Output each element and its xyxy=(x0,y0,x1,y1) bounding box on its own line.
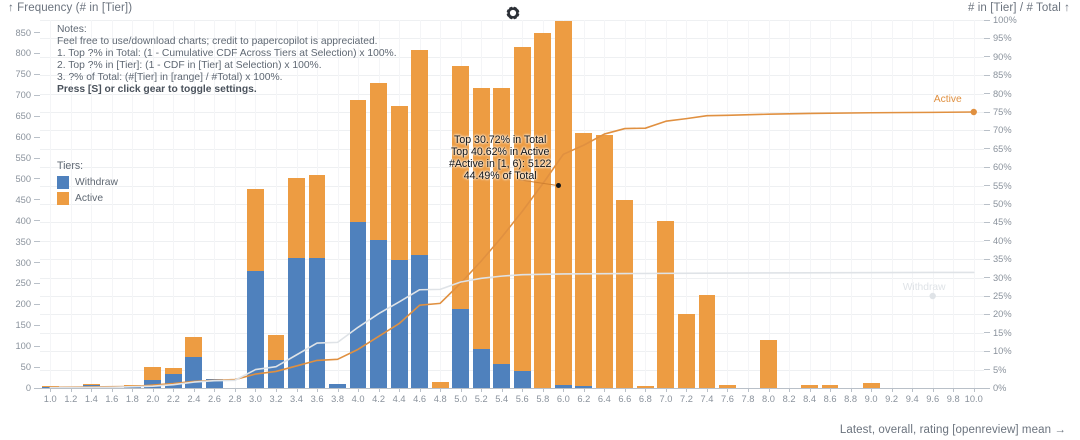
x-tick-label: 6.8 xyxy=(639,394,652,404)
x-tick-mark xyxy=(789,388,790,392)
y-right-tick: 25% xyxy=(984,291,1012,301)
y-right-tick-label: 70% xyxy=(993,125,1012,135)
y-left-tick-label: 200 xyxy=(15,299,31,309)
y-left-tick: 250 xyxy=(15,278,40,288)
x-tick-label: 8.0 xyxy=(762,394,775,404)
bar-group[interactable] xyxy=(288,178,305,388)
x-tick-label: 7.6 xyxy=(721,394,734,404)
x-tick-label: 5.6 xyxy=(516,394,529,404)
x-tick-label: 3.8 xyxy=(331,394,344,404)
x-tick-mark xyxy=(358,388,359,392)
y-right-tick: 50% xyxy=(984,199,1012,209)
y-right-tick: 35% xyxy=(984,254,1012,264)
x-tick-mark xyxy=(214,388,215,392)
x-tick-mark xyxy=(112,388,113,392)
right-axis-title: # in [Tier] / # Total ↑ xyxy=(968,2,1070,14)
y-left-tick-label: 100 xyxy=(15,341,31,351)
y-right-tick-mark xyxy=(984,332,990,333)
y-right-tick-mark xyxy=(984,93,990,94)
legend-label-withdraw: Withdraw xyxy=(75,177,118,188)
y-right-tick-mark xyxy=(984,167,990,168)
x-tick-label: 8.8 xyxy=(844,394,857,404)
bar-segment-withdraw[interactable] xyxy=(288,258,305,388)
legend-swatch-active xyxy=(57,192,69,205)
bar-group[interactable] xyxy=(370,83,387,388)
y-right-tick: 0% xyxy=(984,383,1006,393)
y-right-tick: 20% xyxy=(984,309,1012,319)
y-right-tick-label: 60% xyxy=(993,162,1012,172)
y-axis-left: 0501001502002503003504004505005506006507… xyxy=(0,20,40,388)
chart-root: ↑ Frequency (# in [Tier]) # in [Tier] / … xyxy=(0,0,1080,440)
x-tick-label: 2.4 xyxy=(187,394,200,404)
y-left-tick: 850 xyxy=(15,28,40,38)
x-tick-label: 1.0 xyxy=(44,394,57,404)
bar-segment-withdraw[interactable] xyxy=(268,360,285,388)
bar-segment-withdraw[interactable] xyxy=(309,258,326,388)
bar-segment-withdraw[interactable] xyxy=(206,379,223,388)
y-right-tick-mark xyxy=(984,112,990,113)
bar-segment-active[interactable] xyxy=(370,83,387,240)
x-tick-label: 5.8 xyxy=(536,394,549,404)
bar-group[interactable] xyxy=(555,21,572,388)
y-right-tick-label: 5% xyxy=(993,365,1006,375)
y-left-tick: 700 xyxy=(15,90,40,100)
x-tick-label: 2.6 xyxy=(208,394,221,404)
y-left-tick-label: 400 xyxy=(15,216,31,226)
x-tick-label: 9.8 xyxy=(947,394,960,404)
bar-segment-withdraw[interactable] xyxy=(452,309,469,388)
bar-group[interactable] xyxy=(760,340,777,388)
x-tick-mark xyxy=(933,388,934,392)
x-tick-mark xyxy=(645,388,646,392)
y-right-tick-mark xyxy=(984,75,990,76)
y-right-tick-mark xyxy=(984,314,990,315)
x-tick-label: 8.2 xyxy=(783,394,796,404)
bar-group[interactable] xyxy=(206,379,223,388)
y-left-tick: 300 xyxy=(15,258,40,268)
y-right-tick: 10% xyxy=(984,346,1012,356)
x-tick-mark xyxy=(871,388,872,392)
x-tick-mark xyxy=(584,388,585,392)
legend-swatch-withdraw xyxy=(57,176,69,189)
y-right-tick-mark xyxy=(984,130,990,131)
active-curve-label: Active xyxy=(934,94,962,105)
x-tick-label: 2.0 xyxy=(146,394,159,404)
x-axis-title: Latest, overall, rating [openreview] mea… xyxy=(840,424,1066,436)
x-tick-mark xyxy=(153,388,154,392)
x-tick-mark xyxy=(132,388,133,392)
x-tick-mark xyxy=(379,388,380,392)
y-right-tick-label: 50% xyxy=(993,199,1012,209)
y-right-tick-mark xyxy=(984,369,990,370)
y-right-tick: 70% xyxy=(984,125,1012,135)
bar-group[interactable] xyxy=(699,295,716,388)
left-axis-title: ↑ Frequency (# in [Tier]) xyxy=(8,2,132,14)
x-tick-label: 6.6 xyxy=(618,394,631,404)
x-tick-mark xyxy=(912,388,913,392)
bar-segment-active[interactable] xyxy=(288,178,305,257)
x-tick-mark xyxy=(235,388,236,392)
x-tick-mark xyxy=(173,388,174,392)
y-right-tick-mark xyxy=(984,148,990,149)
x-tick-mark xyxy=(727,388,728,392)
y-right-tick-label: 65% xyxy=(993,144,1012,154)
legend: Tiers: Withdraw Active xyxy=(57,160,118,208)
bar-segment-active[interactable] xyxy=(411,50,428,255)
bar-segment-withdraw[interactable] xyxy=(473,349,490,388)
y-left-tick: 550 xyxy=(15,153,40,163)
x-tick-label: 1.4 xyxy=(85,394,98,404)
x-tick-mark xyxy=(666,388,667,392)
y-right-tick: 5% xyxy=(984,365,1006,375)
x-tick-label: 8.6 xyxy=(824,394,837,404)
bar-group[interactable] xyxy=(144,367,161,388)
x-tick-mark xyxy=(543,388,544,392)
bar-segment-active[interactable] xyxy=(473,88,490,349)
notes-line-2: 1. Top ?% in Total: (1 - Cumulative CDF … xyxy=(57,48,397,60)
legend-item-withdraw[interactable]: Withdraw xyxy=(57,176,118,189)
x-tick-mark xyxy=(625,388,626,392)
bar-group[interactable] xyxy=(657,221,674,388)
bar-segment-active[interactable] xyxy=(657,221,674,388)
bar-segment-active[interactable] xyxy=(309,175,326,257)
annotation-line-4: 44.49% of Total xyxy=(449,170,551,182)
y-left-tick: 750 xyxy=(15,69,40,79)
x-tick-mark xyxy=(481,388,482,392)
x-tick-mark xyxy=(522,388,523,392)
x-tick-mark xyxy=(707,388,708,392)
x-tick-label: 1.8 xyxy=(126,394,139,404)
x-tick-mark xyxy=(502,388,503,392)
y-right-tick-label: 90% xyxy=(993,52,1012,62)
bar-group[interactable] xyxy=(391,106,408,388)
y-right-tick: 30% xyxy=(984,273,1012,283)
annotation-point-marker xyxy=(556,183,561,188)
bar-segment-active[interactable] xyxy=(42,386,59,387)
x-tick-mark xyxy=(71,388,72,392)
y-right-tick-mark xyxy=(984,185,990,186)
bar-segment-withdraw[interactable] xyxy=(165,374,182,388)
y-left-tick-label: 750 xyxy=(15,69,31,79)
legend-title: Tiers: xyxy=(57,160,118,172)
bar-segment-withdraw[interactable] xyxy=(144,380,161,388)
x-tick-label: 3.6 xyxy=(311,394,324,404)
x-tick-mark xyxy=(461,388,462,392)
y-left-tick-label: 500 xyxy=(15,174,31,184)
bar-segment-active[interactable] xyxy=(452,66,469,309)
bar-group[interactable] xyxy=(534,33,551,388)
y-left-tick: 100 xyxy=(15,341,40,351)
y-left-tick: 500 xyxy=(15,174,40,184)
y-right-tick-label: 75% xyxy=(993,107,1012,117)
y-left-tick-label: 250 xyxy=(15,278,31,288)
bar-segment-withdraw[interactable] xyxy=(350,222,367,388)
y-left-tick-label: 450 xyxy=(15,195,31,205)
y-right-tick-mark xyxy=(984,259,990,260)
withdraw-curve-label: Withdraw xyxy=(903,282,946,293)
x-tick-mark xyxy=(851,388,852,392)
x-tick-label: 3.4 xyxy=(290,394,303,404)
y-left-tick-label: 850 xyxy=(15,28,31,38)
bar-group[interactable] xyxy=(616,200,633,388)
y-left-tick-label: 600 xyxy=(15,132,31,142)
y-left-tick-label: 800 xyxy=(15,48,31,58)
y-right-tick-mark xyxy=(984,20,990,21)
y-axis-right: 0%5%10%15%20%25%30%35%40%45%50%55%60%65%… xyxy=(984,20,1080,388)
bar-segment-active[interactable] xyxy=(555,21,572,385)
x-tick-label: 5.4 xyxy=(495,394,508,404)
x-tick-label: 9.6 xyxy=(926,394,939,404)
y-left-tick-label: 550 xyxy=(15,153,31,163)
x-tick-label: 1.2 xyxy=(64,394,77,404)
bar-segment-withdraw[interactable] xyxy=(514,371,531,388)
y-right-tick-label: 35% xyxy=(993,254,1012,264)
selection-annotation: Top 30.72% in Total Top 40.62% in Active… xyxy=(449,134,551,183)
y-right-tick: 60% xyxy=(984,162,1012,172)
y-right-tick-mark xyxy=(984,351,990,352)
x-tick-label: 6.2 xyxy=(577,394,590,404)
x-tick-mark xyxy=(194,388,195,392)
x-tick-label: 1.6 xyxy=(105,394,118,404)
y-right-tick-label: 15% xyxy=(993,328,1012,338)
x-tick-label: 10.0 xyxy=(965,394,983,404)
bar-segment-active[interactable] xyxy=(144,367,161,380)
y-right-tick: 85% xyxy=(984,70,1012,80)
bar-group[interactable] xyxy=(309,175,326,388)
x-tick-label: 3.2 xyxy=(270,394,283,404)
y-left-tick-label: 350 xyxy=(15,237,31,247)
y-right-tick-label: 20% xyxy=(993,309,1012,319)
y-right-tick-mark xyxy=(984,222,990,223)
x-tick-label: 5.2 xyxy=(475,394,488,404)
legend-label-active: Active xyxy=(75,193,103,204)
bar-segment-active[interactable] xyxy=(616,200,633,388)
x-tick-mark xyxy=(810,388,811,392)
bar-segment-active[interactable] xyxy=(247,189,264,271)
y-right-tick-label: 10% xyxy=(993,346,1012,356)
bar-segment-withdraw[interactable] xyxy=(370,240,387,388)
y-right-tick: 45% xyxy=(984,217,1012,227)
y-right-tick: 90% xyxy=(984,52,1012,62)
x-tick-label: 7.4 xyxy=(700,394,713,404)
y-right-tick-label: 100% xyxy=(993,15,1017,25)
x-tick-mark xyxy=(686,388,687,392)
bar-group[interactable] xyxy=(350,100,367,388)
y-left-tick: 200 xyxy=(15,299,40,309)
y-left-tick: 400 xyxy=(15,216,40,226)
annotation-line-2: Top 40.62% in Active xyxy=(449,146,551,158)
y-left-tick-label: 700 xyxy=(15,90,31,100)
x-tick-label: 4.0 xyxy=(352,394,365,404)
y-right-tick: 65% xyxy=(984,144,1012,154)
x-tick-label: 2.8 xyxy=(228,394,241,404)
y-left-tick-label: 300 xyxy=(15,258,31,268)
y-right-tick: 55% xyxy=(984,181,1012,191)
bar-group[interactable] xyxy=(268,334,285,388)
bar-segment-active[interactable] xyxy=(760,340,777,388)
bar-segment-active[interactable] xyxy=(350,100,367,221)
y-right-tick-mark xyxy=(984,240,990,241)
bar-segment-active[interactable] xyxy=(699,295,716,388)
bar-group[interactable] xyxy=(185,337,202,388)
y-right-tick-label: 55% xyxy=(993,181,1012,191)
x-tick-label: 7.8 xyxy=(742,394,755,404)
bar-segment-withdraw[interactable] xyxy=(391,260,408,388)
x-tick-mark xyxy=(748,388,749,392)
y-right-tick-label: 30% xyxy=(993,273,1012,283)
x-tick-label: 7.2 xyxy=(680,394,693,404)
y-left-tick: 800 xyxy=(15,48,40,58)
legend-item-active[interactable]: Active xyxy=(57,192,118,205)
x-tick-label: 6.4 xyxy=(598,394,611,404)
x-tick-mark xyxy=(420,388,421,392)
x-tick-label: 7.0 xyxy=(659,394,672,404)
x-tick-label: 9.4 xyxy=(906,394,919,404)
y-right-tick: 75% xyxy=(984,107,1012,117)
y-left-tick-label: 50 xyxy=(21,362,31,372)
bar-segment-active[interactable] xyxy=(678,314,695,388)
annotation-line-3: #Active in [1, 6): 5122 xyxy=(449,158,551,170)
x-tick-mark xyxy=(604,388,605,392)
y-right-tick-label: 85% xyxy=(993,70,1012,80)
y-left-tick: 650 xyxy=(15,111,40,121)
y-right-tick-mark xyxy=(984,296,990,297)
y-right-tick-label: 45% xyxy=(993,217,1012,227)
bar-group[interactable] xyxy=(514,47,531,388)
x-tick-label: 4.6 xyxy=(413,394,426,404)
x-axis: 1.01.21.41.61.82.02.22.42.62.83.03.23.43… xyxy=(40,388,984,410)
x-tick-mark xyxy=(440,388,441,392)
bar-group[interactable] xyxy=(452,66,469,388)
notes-line-5: Press [S] or click gear to toggle settin… xyxy=(57,84,397,96)
bar-segment-withdraw[interactable] xyxy=(247,271,264,388)
y-right-tick-label: 0% xyxy=(993,383,1006,393)
y-left-tick: 150 xyxy=(15,320,40,330)
y-left-tick: 350 xyxy=(15,237,40,247)
x-tick-label: 4.8 xyxy=(434,394,447,404)
x-tick-mark xyxy=(255,388,256,392)
bar-segment-withdraw[interactable] xyxy=(185,357,202,388)
bar-group[interactable] xyxy=(678,314,695,388)
bar-group[interactable] xyxy=(165,368,182,388)
y-left-tick-label: 650 xyxy=(15,111,31,121)
bar-segment-active[interactable] xyxy=(391,106,408,261)
x-tick-mark xyxy=(338,388,339,392)
x-tick-mark xyxy=(297,388,298,392)
x-tick-mark xyxy=(317,388,318,392)
x-tick-label: 9.0 xyxy=(865,394,878,404)
x-tick-label: 5.0 xyxy=(454,394,467,404)
bar-group[interactable] xyxy=(575,133,592,389)
x-tick-label: 3.0 xyxy=(249,394,262,404)
bar-segment-active[interactable] xyxy=(268,335,285,360)
bar-group[interactable] xyxy=(411,50,428,388)
x-tick-mark xyxy=(50,388,51,392)
x-tick-mark xyxy=(563,388,564,392)
x-tick-mark xyxy=(399,388,400,392)
y-right-tick-label: 80% xyxy=(993,89,1012,99)
x-tick-label: 2.2 xyxy=(167,394,180,404)
x-tick-label: 8.4 xyxy=(803,394,816,404)
y-right-tick-mark xyxy=(984,388,990,389)
y-right-tick-mark xyxy=(984,204,990,205)
y-right-tick-mark xyxy=(984,38,990,39)
bar-group[interactable] xyxy=(596,135,613,388)
bar-segment-withdraw[interactable] xyxy=(493,364,510,388)
y-right-tick-label: 40% xyxy=(993,236,1012,246)
bar-segment-active[interactable] xyxy=(514,47,531,371)
bar-segment-active[interactable] xyxy=(165,368,182,374)
x-tick-label: 4.2 xyxy=(372,394,385,404)
x-tick-label: 4.4 xyxy=(393,394,406,404)
y-left-tick: 0 xyxy=(26,383,40,393)
bar-segment-active[interactable] xyxy=(493,88,510,364)
x-tick-mark xyxy=(769,388,770,392)
bar-segment-active[interactable] xyxy=(575,133,592,386)
x-tick-mark xyxy=(91,388,92,392)
bar-segment-active[interactable] xyxy=(534,33,551,388)
x-tick-mark xyxy=(953,388,954,392)
notes-title: Notes: xyxy=(57,24,397,36)
x-tick-label: 9.2 xyxy=(885,394,898,404)
y-left-tick: 600 xyxy=(15,132,40,142)
y-left-tick: 450 xyxy=(15,195,40,205)
notes-block: Notes: Feel free to use/download charts;… xyxy=(57,24,397,95)
y-right-tick: 95% xyxy=(984,33,1012,43)
y-right-tick: 15% xyxy=(984,328,1012,338)
x-tick-mark xyxy=(974,388,975,392)
x-tick-mark xyxy=(892,388,893,392)
y-right-tick: 40% xyxy=(984,236,1012,246)
notes-line-4: 3. ?% of Total: (#[Tier] in [range] / #T… xyxy=(57,72,397,84)
y-left-tick: 50 xyxy=(21,362,40,372)
notes-line-3: 2. Top ?% in [Tier]: (1 - CDF in [Tier] … xyxy=(57,60,397,72)
notes-line-1: Feel free to use/download charts; credit… xyxy=(57,36,397,48)
y-right-tick-label: 25% xyxy=(993,291,1012,301)
bar-segment-active[interactable] xyxy=(596,135,613,388)
x-axis-line xyxy=(40,388,984,389)
y-right-tick-mark xyxy=(984,277,990,278)
y-left-tick-label: 150 xyxy=(15,320,31,330)
x-tick-label: 6.0 xyxy=(557,394,570,404)
x-tick-mark xyxy=(830,388,831,392)
y-right-tick: 80% xyxy=(984,89,1012,99)
y-right-tick-label: 95% xyxy=(993,33,1012,43)
gear-icon[interactable] xyxy=(505,5,521,21)
annotation-line-1: Top 30.72% in Total xyxy=(449,134,551,146)
x-tick-mark xyxy=(276,388,277,392)
bar-segment-withdraw[interactable] xyxy=(411,255,428,388)
y-right-tick: 100% xyxy=(984,15,1017,25)
y-left-tick-label: 0 xyxy=(26,383,31,393)
bar-segment-active[interactable] xyxy=(185,337,202,358)
y-right-tick-mark xyxy=(984,56,990,57)
bar-group[interactable] xyxy=(247,189,264,388)
